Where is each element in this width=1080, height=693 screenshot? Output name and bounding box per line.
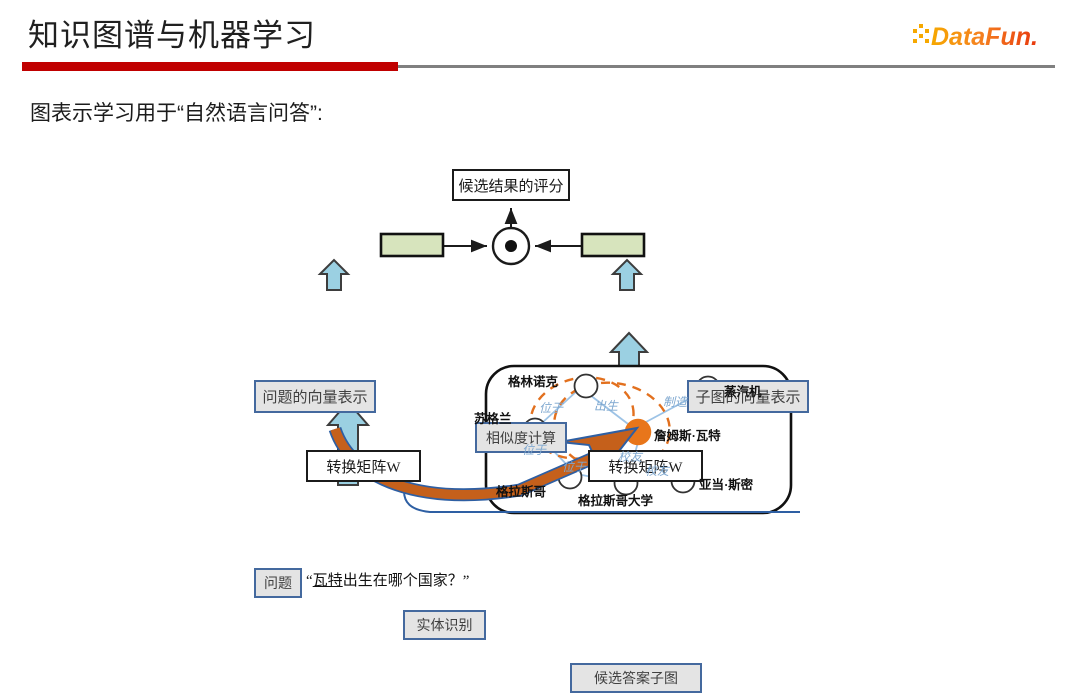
edge-label-alumni-2: 校友 bbox=[645, 462, 669, 479]
question-vector-label: 问题的向量表示 bbox=[254, 380, 376, 413]
node-label-greenock: 格林诺克 bbox=[508, 371, 558, 390]
subgraph-vector-bar bbox=[582, 234, 644, 256]
graph-node-greenock bbox=[575, 375, 598, 398]
question-vector-bar bbox=[381, 234, 443, 256]
architecture-diagram: 候选结果的评分 问题的向量表示 子图的向量表示 相似度计算 转换矩阵W 转换矩阵… bbox=[0, 150, 1080, 553]
datafun-logo: DataFun. bbox=[912, 20, 1062, 54]
edge-label-located-in-3: 位于 bbox=[562, 458, 586, 475]
edge-label-located-in-1: 位于 bbox=[539, 399, 563, 416]
node-label-scotland: 苏格兰 bbox=[474, 408, 512, 427]
title-rule-gray bbox=[398, 65, 1055, 68]
page-title: 知识图谱与机器学习 bbox=[28, 10, 316, 55]
entity-recognition-label: 实体识别 bbox=[403, 610, 486, 640]
edge-label-alumni-1: 校友 bbox=[618, 448, 642, 465]
score-box: 候选结果的评分 bbox=[452, 169, 570, 201]
subgraph-caption: 候选答案子图 bbox=[570, 663, 702, 693]
question-quote-open: “ bbox=[306, 573, 313, 589]
subtitle: 图表示学习用于“自然语言问答”: bbox=[30, 97, 323, 127]
node-label-adam-smith: 亚当·斯密 bbox=[699, 474, 753, 493]
block-arrow-left-small bbox=[320, 260, 348, 290]
question-entity: 瓦特 bbox=[313, 573, 343, 589]
edge-label-invented: 制造 bbox=[663, 393, 687, 410]
question-sentence: “瓦特出生在哪个国家？” bbox=[306, 569, 469, 590]
datafun-logo-icon: DataFun. bbox=[912, 20, 1062, 54]
transform-matrix-left: 转换矩阵W bbox=[306, 450, 421, 482]
block-arrow-right-small bbox=[613, 260, 641, 290]
question-badge: 问题 bbox=[254, 568, 302, 598]
svg-text:DataFun.: DataFun. bbox=[931, 23, 1038, 51]
dot-product-dot bbox=[505, 240, 517, 252]
question-rest: 出生在哪个国家？” bbox=[343, 573, 470, 589]
node-label-glasgow-uni: 格拉斯哥大学 bbox=[578, 490, 653, 509]
edge-label-located-in-2: 位于 bbox=[522, 441, 546, 458]
title-rule-red bbox=[22, 62, 398, 71]
node-label-steam: 蒸汽机 bbox=[724, 381, 762, 400]
node-label-glasgow: 格拉斯哥 bbox=[496, 481, 546, 500]
node-label-james-watt: 詹姆斯·瓦特 bbox=[654, 425, 721, 444]
edge-label-born-in: 出生 bbox=[594, 397, 618, 414]
